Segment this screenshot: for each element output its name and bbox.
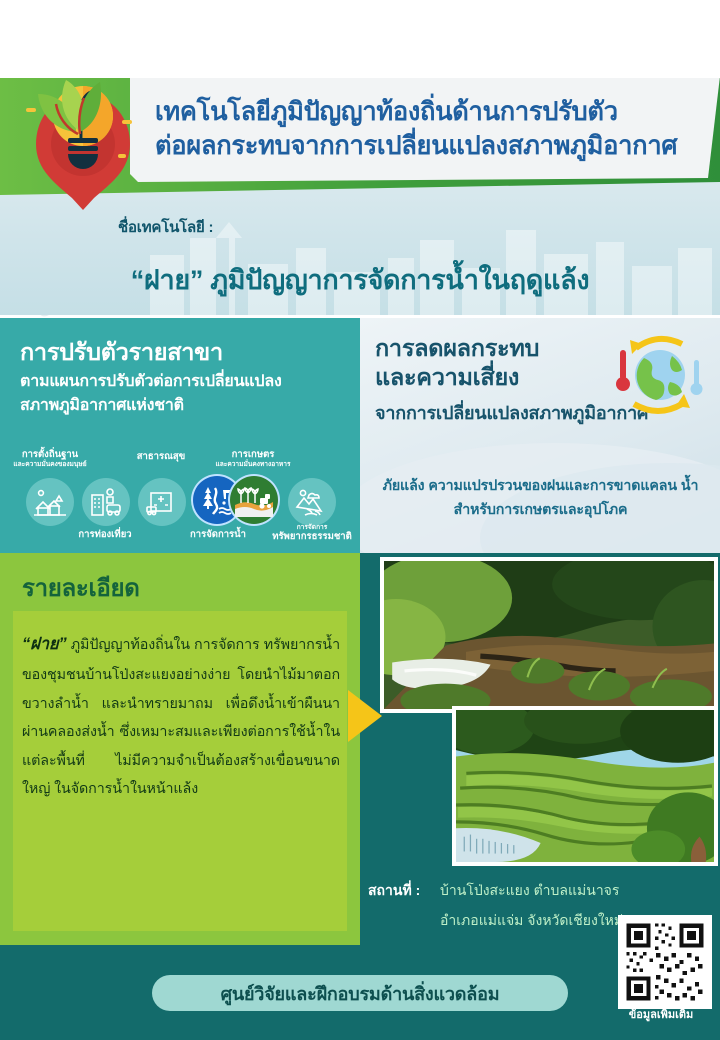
globe-thermometer-icon <box>600 330 710 420</box>
sector-caption-natural-resources: การจัดการ ทรัพยากรธรรมชาติ <box>262 524 362 543</box>
sector-caption-tourism: การท่องเที่ยว <box>60 530 150 541</box>
sector-item-settlement[interactable] <box>26 478 74 526</box>
terraced-rice-field-photo <box>452 706 718 866</box>
mitigation-body-line1: ภัยแล้ง ความแปรปรวนของฝนและการขาดแคลน <box>383 478 677 494</box>
sector-caption-agriculture: การเกษตร และความมั่นคงทางอาหาร <box>198 450 308 469</box>
sector-caption-settlement: การตั้งถิ่นฐาน และความมั่นคงของมนุษย์ <box>2 450 98 469</box>
adaptation-subheading-line2: สภาพภูมิอากาศแห่งชาติ <box>20 397 184 414</box>
natural-resources-mountain-icon <box>288 478 336 526</box>
stream-check-dam-photo <box>380 557 718 713</box>
arrow-right-icon <box>348 690 382 742</box>
tourism-city-icon <box>82 478 130 526</box>
thermometer-cold <box>691 360 703 395</box>
sector-icon-row: การตั้งถิ่นฐาน และความมั่นคงของมนุษย์ <box>0 450 360 555</box>
location-line1: บ้านโป่งสะแยง ตำบลแม่นาจร <box>440 880 619 902</box>
adaptation-subheading-line1: ตามแผนการปรับตัวต่อการเปลี่ยนแปลง <box>20 373 282 390</box>
footer-organization-pill: ศูนย์วิจัยและฝึกอบรมด้านสิ่งแวดล้อม <box>152 975 568 1011</box>
lightbulb-leaf-map-pin-icon <box>18 58 148 218</box>
adaptation-subheading: ตามแผนการปรับตัวต่อการเปลี่ยนแปลง สภาพภู… <box>20 370 350 418</box>
public-health-hospital-icon <box>138 478 186 526</box>
mitigation-heading-line2: และความเสี่ยง <box>375 364 519 390</box>
sector-caption-water: การจัดการน้ำ <box>170 530 266 541</box>
sector-item-agriculture[interactable] <box>230 476 278 524</box>
sector-item-tourism[interactable] <box>82 478 130 526</box>
poster-root: กรมส่งเสริมคุณภาพสิ่งแวดล้อม Department … <box>0 0 720 1040</box>
thermometer-hot <box>616 350 630 391</box>
technology-name: “ฝาย” ภูมิปัญญาการจัดการน้ำในฤดูแล้ง <box>0 258 720 301</box>
mitigation-heading-line1: การลดผลกระทบ <box>375 335 539 361</box>
details-heading: รายละเอียด <box>22 568 140 607</box>
location-label: สถานที่ : <box>368 880 420 902</box>
details-body-text: ภูมิปัญญาท้องถิ่นใน การจัดการ ทรัพยากรน้… <box>22 637 340 797</box>
technology-label: ชื่อเทคโนโลยี : <box>118 215 213 239</box>
agriculture-field-icon <box>230 476 278 524</box>
top-bar <box>0 0 720 78</box>
sector-item-natural-resources[interactable] <box>288 478 336 526</box>
mitigation-heading: การลดผลกระทบ และความเสี่ยง <box>375 334 539 393</box>
footer-organization-label: ศูนย์วิจัยและฝึกอบรมด้านสิ่งแวดล้อม <box>221 979 500 1008</box>
adaptation-heading: การปรับตัวรายสาขา <box>20 334 223 371</box>
page-title-line2: ต่อผลกระทบจากการเปลี่ยนแปลงสภาพภูมิอากาศ <box>155 126 677 166</box>
sector-caption-health: สาธารณสุข <box>118 452 204 463</box>
qr-caption: ข้อมูลเพิ่มเติม <box>612 1005 710 1023</box>
location-line2: อำเภอแม่แจ่ม จังหวัดเชียงใหม่ <box>440 910 623 932</box>
sector-item-health[interactable] <box>138 478 186 526</box>
mitigation-body: ภัยแล้ง ความแปรปรวนของฝนและการขาดแคลน น้… <box>368 474 713 522</box>
qr-code-icon[interactable] <box>618 915 712 1009</box>
details-body: “ฝาย” ภูมิปัญญาท้องถิ่นใน การจัดการ ทรัพ… <box>22 628 340 804</box>
details-lead: “ฝาย” <box>22 635 67 653</box>
settlement-houses-icon <box>26 478 74 526</box>
